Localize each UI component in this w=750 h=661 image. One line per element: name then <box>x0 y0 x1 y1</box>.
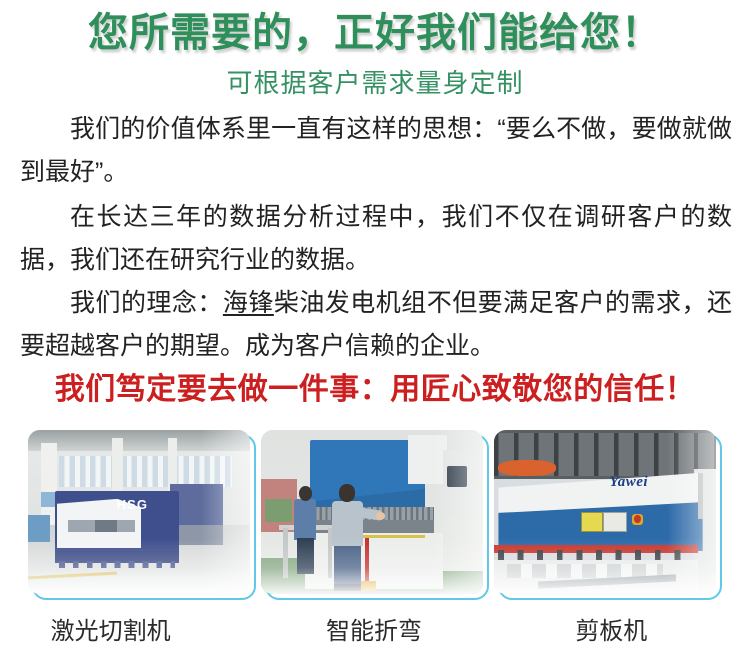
photo-press-brake-bending <box>261 430 483 594</box>
photo-shearing-machine: Yawei <box>494 430 716 594</box>
promo-banner-page: 您所需要的，正好我们能给您！ 可根据客户需求量身定制 我们的价值体系里一直有这样… <box>0 0 750 661</box>
caption-shearing-machine: 剪板机 <box>501 612 750 657</box>
paragraph-philosophy-prefix: 我们的理念： <box>20 289 223 317</box>
paragraph-values: 我们的价值体系里一直有这样的思想：“要么不做，要做就做到最好”。 <box>20 108 732 194</box>
paragraph-research-text: 在长达三年的数据分析过程中，我们不仅在调研客户的数据，我们还在研究行业的数据。 <box>20 203 732 274</box>
photo-card-shearing-machine: Yawei <box>494 430 722 602</box>
photo-caption-row: 激光切割机 智能折弯 剪板机 <box>0 612 750 657</box>
photo-brand-mark-hsg: HSG <box>117 497 148 512</box>
photo-card-press-brake <box>261 430 489 602</box>
equipment-photo-row: HSG <box>0 430 750 612</box>
paragraph-research: 在长达三年的数据分析过程中，我们不仅在调研客户的数据，我们还在研究行业的数据。 <box>20 196 732 282</box>
photo-card-laser-cutter: HSG <box>28 430 256 602</box>
emphasis-statement: 我们笃定要去做一件事：用匠心致敬您的信任！ <box>0 368 750 412</box>
paragraph-values-text: 我们的价值体系里一直有这样的思想：“要么不做，要做就做到最好”。 <box>20 115 732 186</box>
photo-brand-mark-yawei: Yawei <box>609 474 648 491</box>
caption-press-brake: 智能折弯 <box>263 612 500 657</box>
photo-laser-cutting-machine: HSG <box>28 430 250 594</box>
caption-laser-cutter: 激光切割机 <box>0 612 263 657</box>
paragraph-philosophy: 我们的理念：海锋柴油发电机组不但要满足客户的需求，还要超越客户的期望。成为客户信… <box>20 282 732 368</box>
headline-title: 您所需要的，正好我们能给您！ <box>0 8 750 58</box>
brand-name-haifeng: 海锋 <box>223 289 274 317</box>
headline-subtitle: 可根据客户需求量身定制 <box>0 66 750 100</box>
